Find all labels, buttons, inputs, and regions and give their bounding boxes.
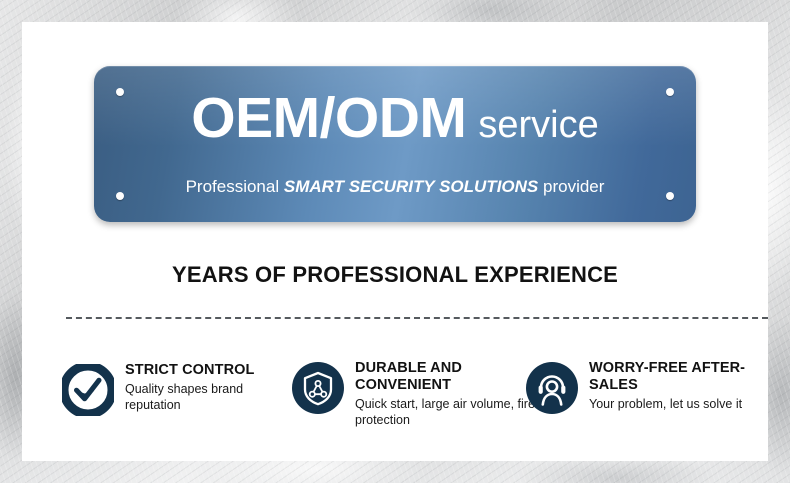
plaque-subtitle-suffix: provider xyxy=(543,177,604,196)
feature-title: STRICT CONTROL xyxy=(125,362,298,379)
white-content-card: OEM/ODMservice Professional SMART SECURI… xyxy=(22,22,768,461)
shield-network-icon xyxy=(292,362,344,414)
feature-title: WORRY-FREE AFTER-SALES xyxy=(589,360,782,394)
oem-odm-plaque-banner: OEM/ODMservice Professional SMART SECURI… xyxy=(94,66,696,222)
plaque-subtitle-emphasis: SMART SECURITY SOLUTIONS xyxy=(284,177,538,196)
plaque-title-main: OEM/ODM xyxy=(191,86,466,150)
feature-item-worry-free-after-sales: WORRY-FREE AFTER-SALES Your problem, let… xyxy=(526,360,782,414)
plaque-title-suffix: service xyxy=(478,104,598,146)
feature-item-strict-control: STRICT CONTROL Quality shapes brand repu… xyxy=(62,360,298,416)
feature-text-block: WORRY-FREE AFTER-SALES Your problem, let… xyxy=(589,360,782,413)
feature-description: Your problem, let us solve it xyxy=(589,397,782,413)
feature-text-block: STRICT CONTROL Quality shapes brand repu… xyxy=(125,360,298,413)
feature-description: Quality shapes brand reputation xyxy=(125,382,298,413)
dashed-divider xyxy=(66,317,768,319)
poster-canvas: OEM/ODMservice Professional SMART SECURI… xyxy=(0,0,790,483)
experience-headline: YEARS OF PROFESSIONAL EXPERIENCE xyxy=(22,262,768,288)
feature-description: Quick start, large air volume, fire prot… xyxy=(355,397,538,428)
feature-text-block: DURABLE AND CONVENIENT Quick start, larg… xyxy=(355,360,538,428)
check-circle-icon xyxy=(62,364,114,416)
plaque-subtitle: Professional SMART SECURITY SOLUTIONS pr… xyxy=(94,177,696,197)
feature-title: DURABLE AND CONVENIENT xyxy=(355,360,538,394)
headset-support-icon xyxy=(526,362,578,414)
feature-item-durable-convenient: DURABLE AND CONVENIENT Quick start, larg… xyxy=(292,360,538,428)
feature-list: STRICT CONTROL Quality shapes brand repu… xyxy=(58,360,782,440)
plaque-title: OEM/ODMservice xyxy=(94,90,696,147)
plaque-subtitle-prefix: Professional xyxy=(186,177,280,196)
